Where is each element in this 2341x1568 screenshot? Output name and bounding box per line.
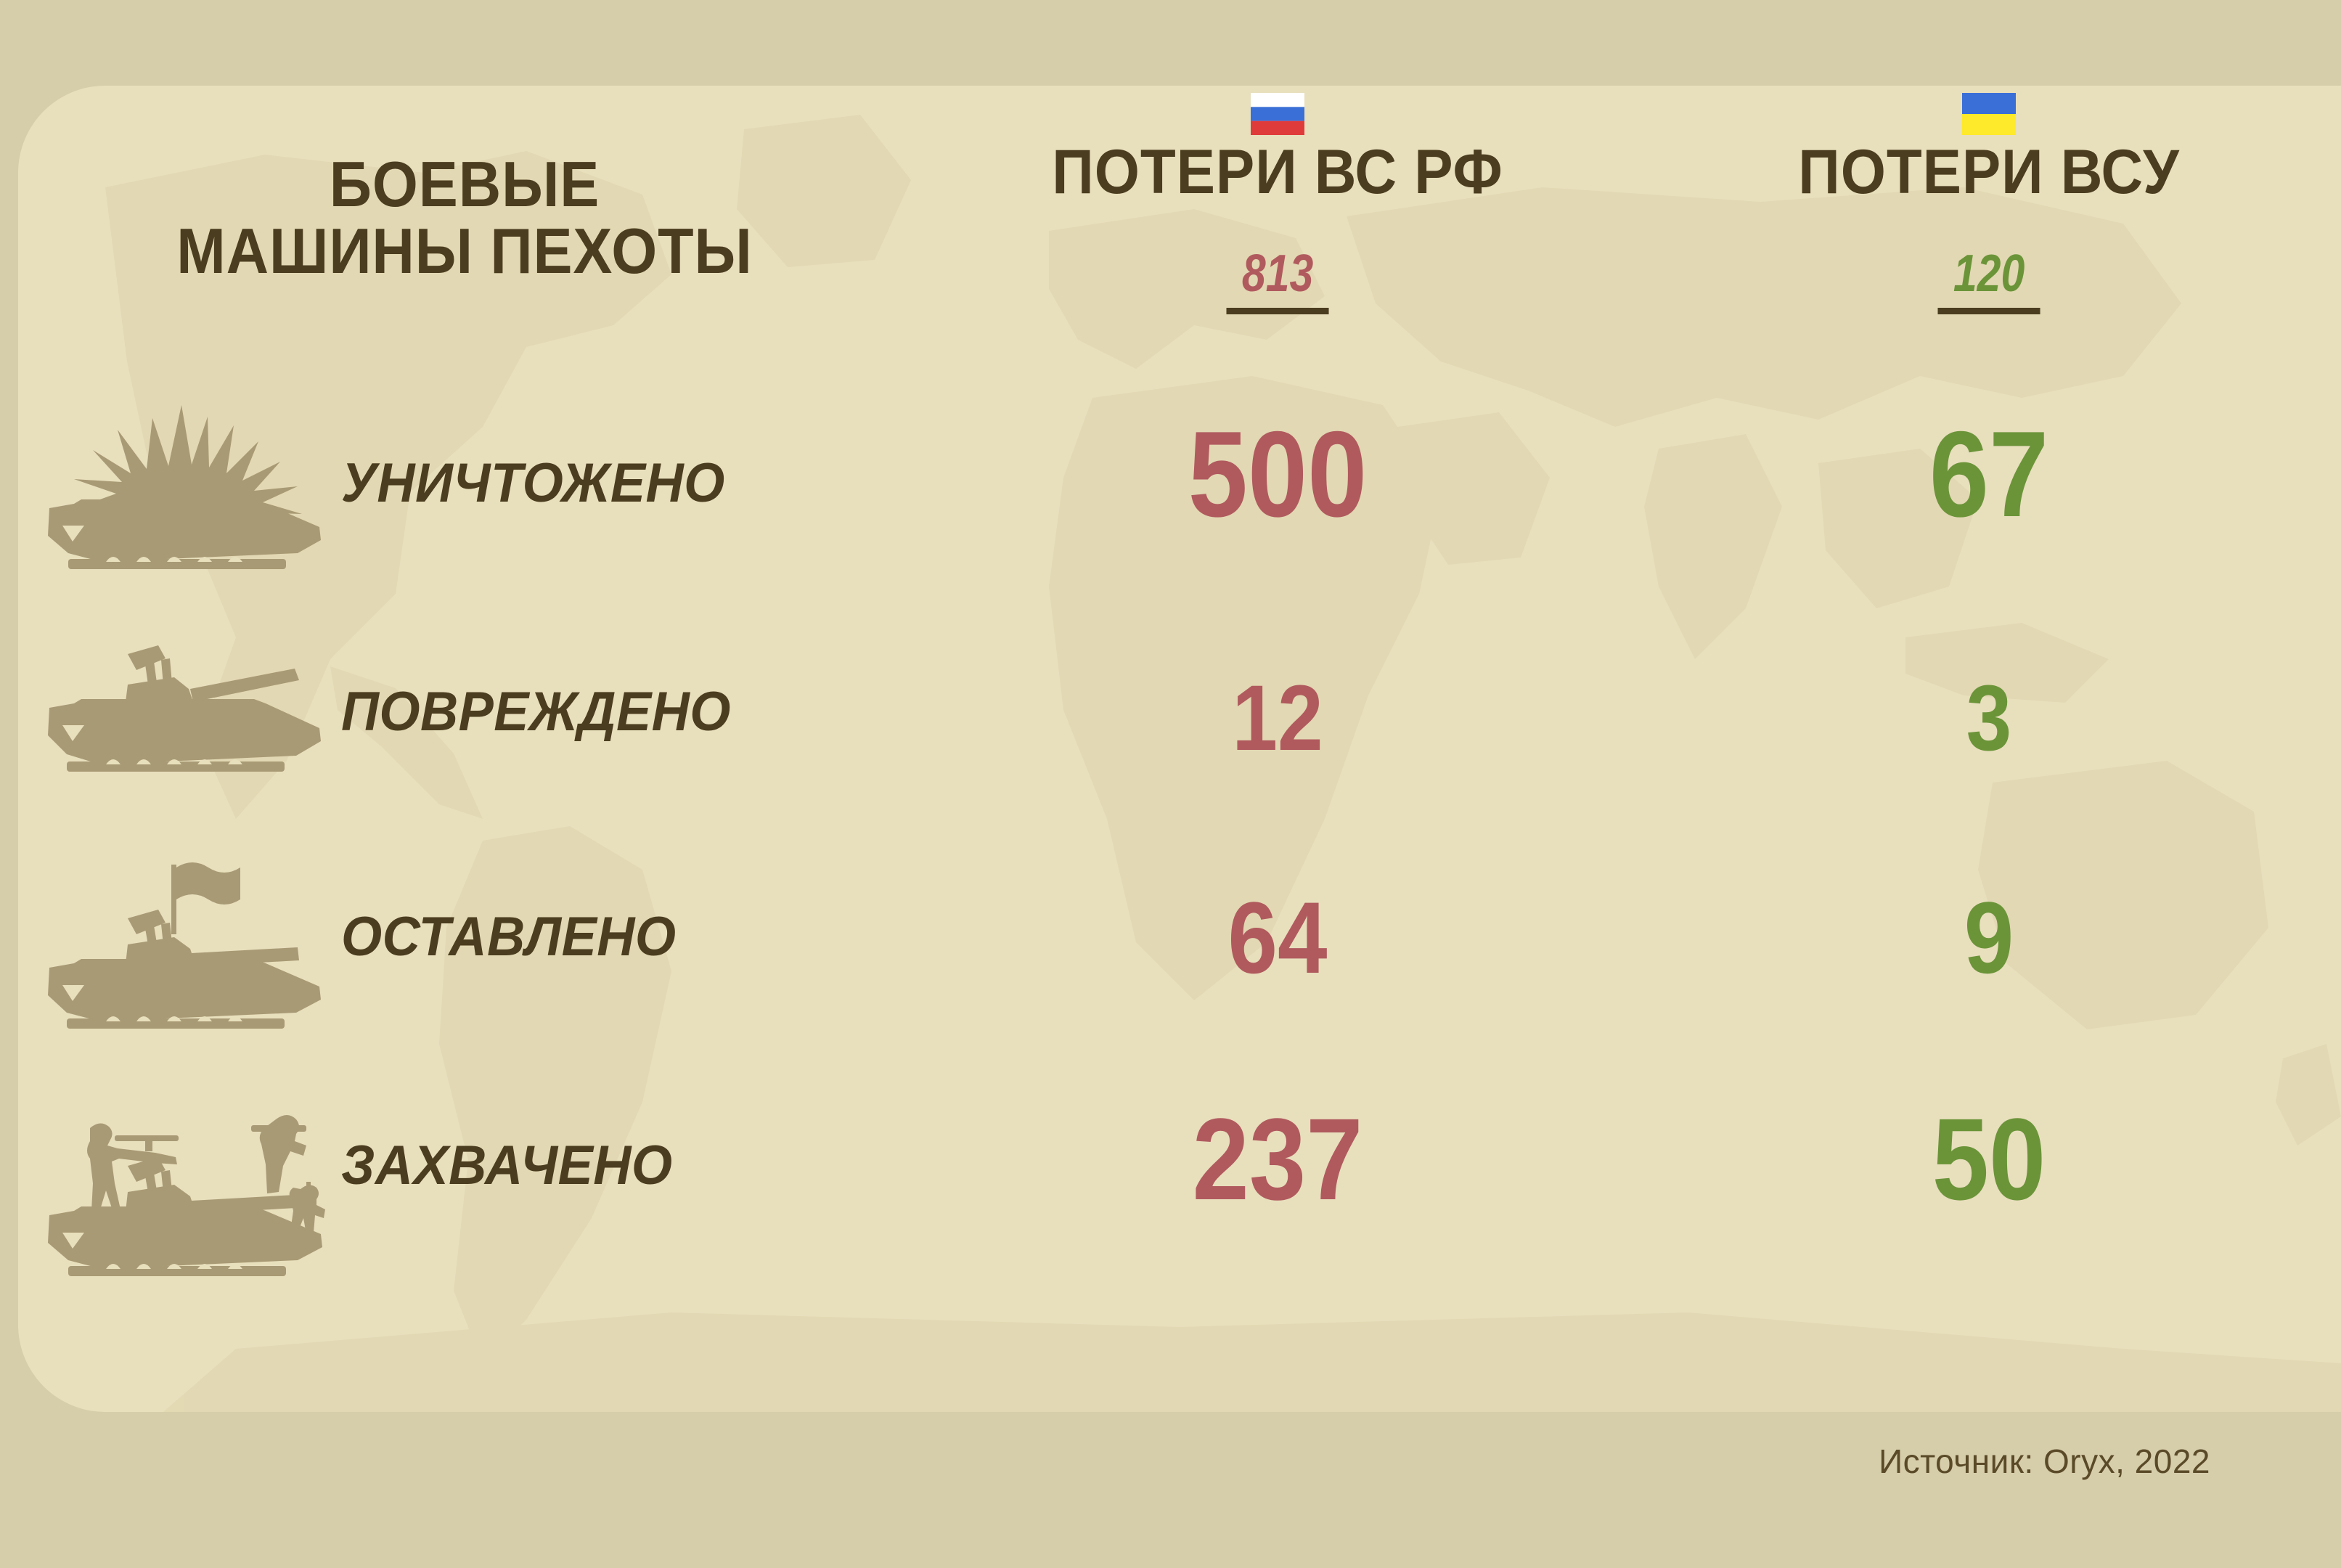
row-label: ЗАХВАЧЕНО bbox=[341, 1137, 672, 1195]
value-ukraine: 67 bbox=[1688, 412, 2289, 536]
ukraine-flag-icon bbox=[1962, 93, 2016, 135]
table-row: ЗАХВАЧЕНО 237 50 bbox=[0, 1080, 2341, 1291]
value-ukraine: 3 bbox=[1688, 657, 2289, 780]
row-label: ОСТАВЛЕНО bbox=[341, 908, 677, 966]
value-russia: 12 bbox=[977, 657, 1577, 780]
table-row: УНИЧТОЖЕНО 500 67 bbox=[0, 398, 2341, 608]
column-header-russia: ПОТЕРИ ВС РФ bbox=[936, 93, 1619, 205]
value-ukraine: 50 bbox=[1688, 1098, 2289, 1221]
table-row: ОСТАВЛЕНО 64 9 bbox=[0, 852, 2341, 1062]
russia-flag-icon bbox=[1251, 93, 1304, 135]
header-row: БОЕВЫЕ МАШИНЫ ПЕХОТЫ ПОТЕРИ ВС РФ ПОТЕРИ bbox=[0, 86, 2341, 391]
column-label-russia: ПОТЕРИ ВС РФ bbox=[960, 139, 1595, 205]
row-label: ПОВРЕЖДЕНО bbox=[341, 683, 731, 741]
table-row: ПОВРЕЖДЕНО 12 3 bbox=[0, 626, 2341, 837]
row-label: УНИЧТОЖЕНО bbox=[341, 454, 725, 513]
value-russia: 64 bbox=[977, 876, 1577, 1000]
page-title: БОЕВЫЕ МАШИНЫ ПЕХОТЫ bbox=[44, 151, 886, 285]
value-russia: 237 bbox=[977, 1098, 1577, 1221]
column-header-ukraine: ПОТЕРИ ВСУ bbox=[1648, 93, 2330, 205]
ifv-damaged-icon bbox=[36, 626, 327, 837]
infographic-content: БОЕВЫЕ МАШИНЫ ПЕХОТЫ ПОТЕРИ ВС РФ ПОТЕРИ bbox=[0, 86, 2341, 1412]
total-ukraine: 120 bbox=[1937, 247, 2040, 314]
ifv-abandoned-icon bbox=[36, 852, 327, 1062]
ifv-destroyed-icon bbox=[36, 398, 327, 608]
title-line-2: МАШИНЫ ПЕХОТЫ bbox=[77, 218, 851, 285]
total-russia: 813 bbox=[1226, 247, 1328, 314]
title-line-1: БОЕВЫЕ bbox=[77, 151, 851, 218]
column-label-ukraine: ПОТЕРИ ВСУ bbox=[1672, 139, 2306, 205]
source-credit: Источник: Oryx, 2022 bbox=[1879, 1442, 2210, 1481]
infographic-canvas: БОЕВЫЕ МАШИНЫ ПЕХОТЫ ПОТЕРИ ВС РФ ПОТЕРИ bbox=[0, 0, 2341, 1568]
total-ukraine-wrap: 120 bbox=[1648, 247, 2330, 314]
value-ukraine: 9 bbox=[1688, 876, 2289, 1000]
value-russia: 500 bbox=[977, 412, 1577, 536]
total-russia-wrap: 813 bbox=[936, 247, 1619, 314]
ifv-captured-icon bbox=[36, 1080, 327, 1291]
